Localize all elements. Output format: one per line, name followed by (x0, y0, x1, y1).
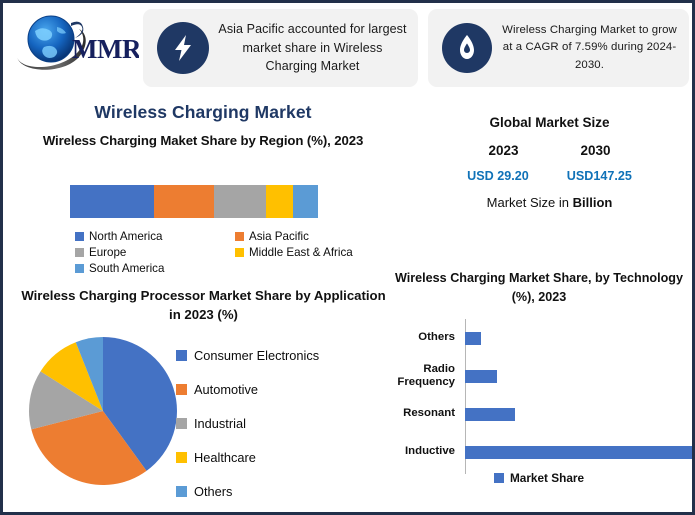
global-market-size-years: 2023 2030 (407, 143, 692, 158)
tech-bar-inductive (465, 446, 692, 459)
header: MMR Asia Pacific accounted for largest m… (3, 3, 692, 93)
region-legend-label: Middle East & Africa (249, 246, 353, 259)
market-size-unit: Market Size in Billion (407, 195, 692, 210)
technology-share-chart: Wireless Charging Market Share, by Techn… (386, 269, 692, 307)
region-legend-label: Europe (89, 246, 126, 259)
header-badge-cagr-text: Wireless Charging Market to grow at a CA… (500, 22, 689, 73)
header-badge-cagr: Wireless Charging Market to grow at a CA… (428, 9, 689, 87)
region-segment-asia-pacific (154, 185, 214, 218)
market-size-value-2023: USD 29.20 (467, 169, 529, 183)
legend-swatch-icon (176, 384, 187, 395)
region-segment-north-america (70, 185, 154, 218)
region-legend-label: South America (89, 262, 164, 275)
pie-legend-item: Automotive (176, 372, 381, 406)
legend-swatch-icon (75, 264, 84, 273)
svg-text:MMR: MMR (72, 34, 139, 64)
tech-bar-row: Others (386, 319, 692, 357)
pie-legend-label: Industrial (194, 416, 246, 431)
market-size-value-2030: USD147.25 (567, 169, 632, 183)
legend-swatch-icon (494, 473, 504, 483)
legend-swatch-icon (235, 232, 244, 241)
region-legend-item: South America (75, 262, 235, 275)
legend-swatch-icon (75, 232, 84, 241)
region-segment-europe (214, 185, 266, 218)
region-segment-south-america (293, 185, 318, 218)
pie-legend-item: Industrial (176, 406, 381, 440)
pie-legend: Consumer Electronics Automotive Industri… (176, 338, 381, 508)
tech-bar-resonant (465, 408, 515, 421)
tech-bar-track (465, 433, 692, 471)
legend-swatch-icon (176, 350, 187, 361)
tech-category-label: Others (386, 331, 465, 344)
tech-bar-others (465, 332, 481, 345)
region-legend-label: Asia Pacific (249, 230, 309, 243)
legend-swatch-icon (176, 418, 187, 429)
region-legend-item: Asia Pacific (235, 230, 395, 243)
market-size-year-2030: 2030 (581, 143, 611, 158)
region-segment-middle-east-africa (266, 185, 293, 218)
legend-swatch-icon (75, 248, 84, 257)
market-size-unit-prefix: Market Size in (487, 195, 573, 210)
tech-category-label: Resonant (386, 407, 465, 420)
pie-legend-item: Others (176, 474, 381, 508)
tech-category-label: Inductive (386, 445, 465, 458)
pie-chart-graphic (28, 336, 178, 486)
tech-bar-track (465, 395, 692, 433)
tech-bar-row: Resonant (386, 395, 692, 433)
market-size-unit-bold: Billion (573, 195, 613, 210)
region-legend-item: Middle East & Africa (235, 246, 395, 259)
flame-glyph (455, 33, 479, 63)
tech-bar-track (465, 319, 692, 357)
pie-legend-item: Consumer Electronics (176, 338, 381, 372)
pie-legend-label: Automotive (194, 382, 258, 397)
lightning-bolt-glyph (170, 33, 196, 63)
region-legend-item: North America (75, 230, 235, 243)
header-badge-asia-pacific-text: Asia Pacific accounted for largest marke… (217, 20, 418, 76)
tech-category-label: Radio Frequency (386, 363, 465, 389)
tech-chart-area: Others Radio Frequency Resonant Inductiv… (386, 319, 692, 474)
global-market-size-title: Global Market Size (407, 115, 692, 130)
header-badge-asia-pacific: Asia Pacific accounted for largest marke… (143, 9, 418, 87)
lightning-bolt-icon (157, 22, 209, 74)
pie-legend-item: Healthcare (176, 440, 381, 474)
legend-swatch-icon (176, 452, 187, 463)
global-market-size-values: USD 29.20 USD147.25 (407, 169, 692, 183)
region-legend: North America Asia Pacific Europe Middle… (75, 230, 395, 278)
tech-legend-label: Market Share (510, 471, 584, 485)
region-share-chart: Wireless Charging Maket Share by Region … (3, 133, 403, 148)
region-legend-label: North America (89, 230, 162, 243)
tech-bar-radio-frequency (465, 370, 497, 383)
tech-chart-title: Wireless Charging Market Share, by Techn… (386, 269, 692, 307)
legend-swatch-icon (235, 248, 244, 257)
page-title: Wireless Charging Market (3, 102, 403, 123)
application-share-chart: Wireless Charging Processor Market Share… (21, 286, 386, 324)
pie-legend-label: Consumer Electronics (194, 348, 319, 363)
legend-swatch-icon (176, 486, 187, 497)
region-chart-title: Wireless Charging Maket Share by Region … (3, 133, 403, 148)
pie-chart-title: Wireless Charging Processor Market Share… (21, 286, 386, 324)
pie-legend-label: Healthcare (194, 450, 256, 465)
tech-bar-row: Inductive (386, 433, 692, 471)
flame-icon (442, 23, 492, 73)
region-stacked-bar (70, 185, 318, 218)
tech-bar-track (465, 357, 692, 395)
infographic-canvas: MMR Asia Pacific accounted for largest m… (0, 0, 695, 515)
mmr-logo-graphic: MMR (11, 11, 139, 77)
pie-legend-label: Others (194, 484, 232, 499)
global-market-size-panel: Global Market Size 2023 2030 USD 29.20 U… (407, 115, 692, 210)
tech-legend: Market Share (386, 471, 692, 485)
pie-chart-area (28, 336, 178, 486)
region-legend-item: Europe (75, 246, 235, 259)
market-size-year-2023: 2023 (488, 143, 518, 158)
mmr-logo: MMR (11, 11, 139, 77)
tech-bar-row: Radio Frequency (386, 357, 692, 395)
